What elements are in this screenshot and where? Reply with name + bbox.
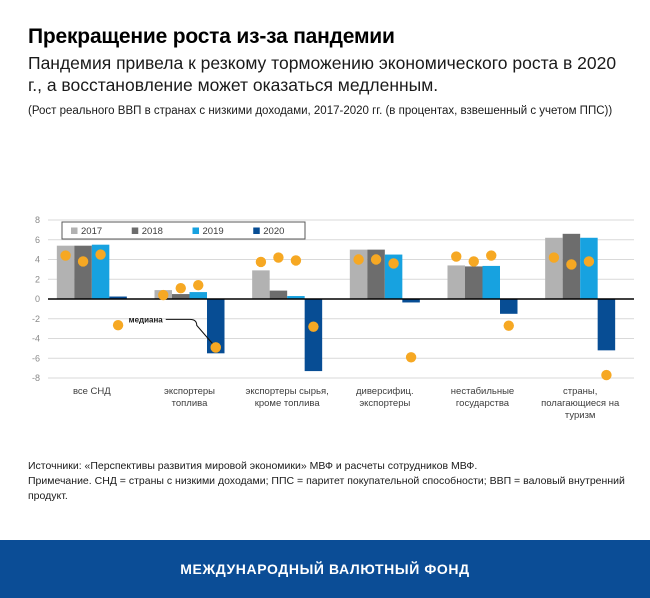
y-axis-tick-label: 2: [35, 274, 40, 284]
chart-container: 86420-2-4-6-8медиана2017201820192020все …: [0, 206, 650, 431]
legend-label-2017[interactable]: 2017: [81, 226, 102, 237]
legend-label-2018[interactable]: 2018: [142, 226, 163, 237]
legend-label-2020[interactable]: 2020: [263, 226, 284, 237]
x-axis-category-label-4: экспортеры: [359, 398, 410, 409]
median-dot-2019-4: [388, 258, 398, 268]
x-axis-category-label-6: туризм: [565, 410, 596, 421]
bar-2020-5: [500, 299, 518, 314]
annotation-label: медиана: [129, 315, 164, 324]
median-dot-2020-4: [406, 352, 416, 362]
median-dot-2018-3: [273, 252, 283, 262]
y-axis-tick-label: -4: [32, 334, 40, 344]
y-axis-tick-label: 0: [35, 294, 40, 304]
y-axis-tick-label: 4: [35, 255, 40, 265]
bar-2017-3: [252, 270, 270, 299]
median-dot-2017-5: [451, 251, 461, 261]
x-axis-category-label-1: все СНД: [73, 386, 111, 397]
x-axis-category-label-2: экспортеры: [164, 386, 215, 397]
bar-2017-6: [545, 238, 563, 299]
legend-swatch-2018: [132, 228, 139, 235]
source-notes: Источники: «Перспективы развития мировой…: [28, 459, 628, 504]
chart-page: Прекращение роста из-за пандемии Пандеми…: [0, 0, 650, 598]
bar-2019-5: [483, 266, 501, 299]
median-dot-2017-2: [158, 290, 168, 300]
median-dot-2020-5: [504, 320, 514, 330]
x-axis-category-label-3: кроме топлива: [255, 398, 321, 409]
footer-logo-text: МЕЖДУНАРОДНЫЙ ВАЛЮТНЫЙ ФОНД: [180, 561, 469, 577]
median-dot-2019-1: [95, 249, 105, 259]
median-dot-2018-1: [78, 256, 88, 266]
x-axis-category-label-6: полагающиеся на: [541, 398, 620, 409]
median-dot-2020-6: [601, 370, 611, 380]
median-dot-2017-6: [549, 252, 559, 262]
bar-2019-2: [190, 292, 208, 299]
x-axis-category-label-5: нестабильные: [451, 386, 514, 397]
bar-2020-6: [598, 299, 616, 350]
legend-swatch-2020: [253, 228, 260, 235]
median-dot-2019-5: [486, 250, 496, 260]
legend-swatch-2019: [193, 228, 200, 235]
bar-2019-6: [580, 238, 598, 299]
source-line: Источники: «Перспективы развития мировой…: [28, 459, 628, 474]
median-dot-2019-2: [193, 280, 203, 290]
median-dot-2019-3: [291, 255, 301, 265]
median-dot-2018-6: [566, 259, 576, 269]
footer-band: МЕЖДУНАРОДНЫЙ ВАЛЮТНЫЙ ФОНД: [0, 540, 650, 598]
x-axis-category-label-2: топлива: [172, 398, 208, 409]
gdp-growth-bar-chart: 86420-2-4-6-8медиана2017201820192020все …: [0, 206, 650, 431]
y-axis-tick-label: -2: [32, 314, 40, 324]
legend-swatch-2017: [71, 228, 78, 235]
header: Прекращение роста из-за пандемии Пандеми…: [28, 24, 628, 132]
page-title: Прекращение роста из-за пандемии: [28, 24, 628, 50]
x-axis-category-label-4: диверсифиц.: [356, 386, 414, 397]
median-dot-2018-4: [371, 254, 381, 264]
median-dot-2017-1: [60, 250, 70, 260]
y-axis-tick-label: 8: [35, 215, 40, 225]
x-axis-category-label-3: экспортеры сырья,: [246, 386, 329, 397]
bar-2020-3: [305, 299, 323, 371]
median-dot-2019-6: [584, 256, 594, 266]
y-axis-tick-label: -8: [32, 373, 40, 383]
median-dot-annotated: [211, 342, 221, 352]
note-line: Примечание. СНД = страны с низкими доход…: [28, 474, 628, 504]
bar-2018-1: [74, 246, 92, 299]
bar-2017-5: [448, 265, 466, 299]
legend-label-2019[interactable]: 2019: [203, 226, 224, 237]
y-axis-tick-label: 6: [35, 235, 40, 245]
page-subtitle: Пандемия привела к резкому торможению эк…: [28, 52, 628, 96]
median-dot-2020-1: [113, 320, 123, 330]
bar-2018-3: [270, 291, 288, 299]
median-dot-2018-2: [176, 283, 186, 293]
median-dot-2017-4: [353, 254, 363, 264]
x-axis-category-label-5: государства: [456, 398, 510, 409]
x-axis-category-label-6: страны,: [563, 386, 597, 397]
chart-caption: (Рост реального ВВП в странах с низкими …: [28, 103, 628, 120]
y-axis-tick-label: -6: [32, 353, 40, 363]
median-dot-2018-5: [469, 256, 479, 266]
bar-2018-5: [465, 266, 483, 299]
median-dot-2017-3: [256, 257, 266, 267]
median-dot-2020-3: [308, 321, 318, 331]
